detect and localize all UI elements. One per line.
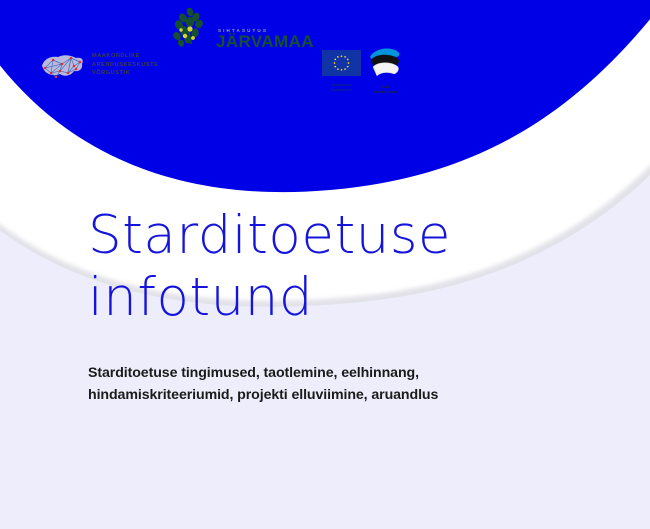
estonia-network-map-icon (38, 46, 86, 84)
eu-logo-caption: Rahastanud Euroopa Liit (322, 83, 361, 92)
slide-title: Starditoetuse infotund (88, 205, 518, 329)
logo-maakondlike-arenduskeskuste-vorgustik: MAAKONDLIKE ARENDUSKESKUSTE VÕRGUSTIK (38, 46, 158, 84)
eu-flag-icon (322, 50, 361, 76)
mak-logo-text: MAAKONDLIKE ARENDUSKESKUSTE VÕRGUSTIK (92, 52, 158, 77)
logo-sihtasutus-jarvamaa: SIHTASUTUS JÄRVAMAA (168, 6, 314, 52)
jarvamaa-logo-text: SIHTASUTUS JÄRVAMAA (216, 28, 314, 52)
logo-eesti-tuleviku-heaks: Eesti tuleviku heaks (366, 48, 404, 94)
presentation-slide: MAAKONDLIKE ARENDUSKESKUSTE VÕRGUSTIK (0, 0, 650, 529)
mak-line-3: VÕRGUSTIK (92, 70, 130, 76)
mak-line-2: ARENDUSKESKUSTE (92, 62, 158, 68)
eu-caption-line-1: Rahastanud (331, 83, 351, 87)
logo-bar: MAAKONDLIKE ARENDUSKESKUSTE VÕRGUSTIK (0, 0, 650, 110)
juniper-tree-icon (168, 6, 214, 52)
eu-caption-line-2: Euroopa Liit (331, 88, 351, 92)
mak-line-1: MAAKONDLIKE (92, 53, 140, 59)
ee-caption-line-1: Eesti (381, 85, 389, 89)
ee-logo-caption: Eesti tuleviku heaks (366, 85, 404, 94)
jarvamaa-big-text: JÄRVAMAA (216, 34, 314, 49)
estonia-wave-flag-icon (366, 48, 404, 78)
logo-euroopa-liit: Rahastanud Euroopa Liit (322, 50, 361, 92)
ee-caption-line-2: tuleviku heaks (373, 90, 397, 94)
slide-subtitle: Starditoetuse tingimused, taotlemine, ee… (88, 362, 558, 406)
